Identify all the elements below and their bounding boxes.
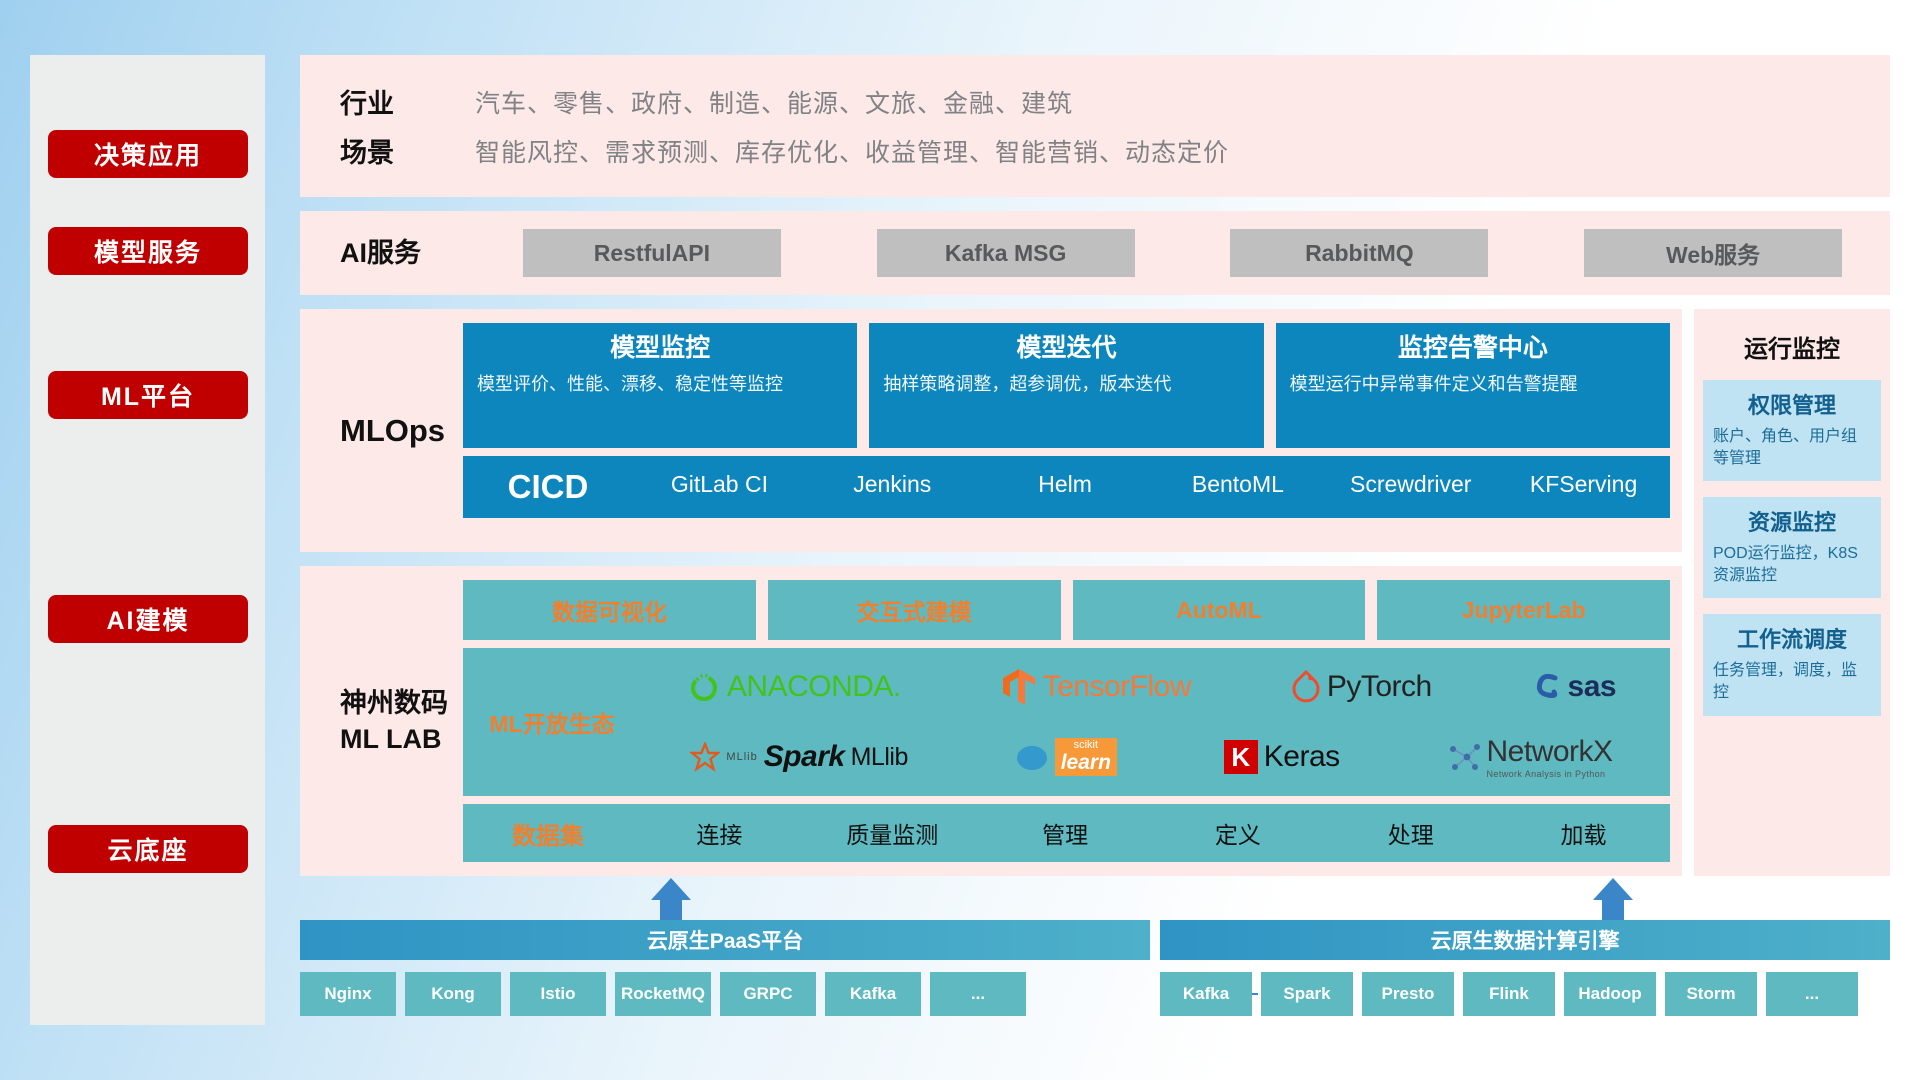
networkx-logo: NetworkX Network Analysis in Python — [1447, 735, 1613, 779]
keras-logo: K Keras — [1224, 740, 1340, 774]
platform-and-monitor: MLOps 模型监控 模型评价、性能、漂移、稳定性等监控 模型迭代 抽样策略调整… — [300, 309, 1890, 876]
tensorflow-logo: TensorFlow — [1001, 667, 1191, 707]
anaconda-logo-text: ANACONDA. — [727, 670, 901, 704]
scikit-learn-logo: scikit learn — [1015, 738, 1117, 776]
paas-chip-istio[interactable]: Istio — [510, 972, 606, 1016]
engine-chip-kafka[interactable]: Kafka — [1160, 972, 1252, 1016]
dataset-item-connect[interactable]: 连接 — [633, 816, 806, 850]
engine-chip-storm[interactable]: Storm — [1665, 972, 1757, 1016]
rail-label: ML平台 — [101, 377, 195, 413]
paas-chip-kong[interactable]: Kong — [405, 972, 501, 1016]
engine-chip-spark[interactable]: Spark — [1261, 972, 1353, 1016]
engine-chip-hadoop[interactable]: Hadoop — [1564, 972, 1656, 1016]
scenario-row: 场景 智能风控、需求预测、库存优化、收益管理、智能营销、动态定价 — [340, 126, 1890, 175]
keras-mark-icon: K — [1224, 740, 1258, 774]
paas-chip-more[interactable]: ... — [930, 972, 1026, 1016]
engine-chip-more[interactable]: ... — [1766, 972, 1858, 1016]
sas-mark-icon — [1532, 671, 1562, 703]
ml-lab-label-line1: 神州数码 — [340, 685, 463, 721]
spark-apache-text: MLlib — [726, 751, 757, 763]
monitor-card-resource[interactable]: 资源监控 POD运行监控，K8S资源监控 — [1703, 497, 1881, 598]
cicd-item-kfserving[interactable]: KFServing — [1497, 470, 1670, 504]
ecosystem-logo-grid: ANACONDA. TensorFlow — [637, 654, 1666, 790]
keras-logo-text: Keras — [1264, 740, 1340, 774]
ecosystem-logo-row-1: ANACONDA. TensorFlow — [637, 654, 1666, 720]
ml-ecosystem-label: ML开放生态 — [467, 705, 637, 739]
rail-label: 云底座 — [107, 831, 188, 867]
ai-service-cell: Web服务 — [1536, 229, 1890, 277]
rail-label: 决策应用 — [94, 136, 202, 172]
ecosystem-logo-row-2: MLlib Spark MLlib scikit — [637, 724, 1666, 790]
spark-logo-text: Spark — [764, 740, 845, 774]
dataset-title: 数据集 — [463, 816, 633, 851]
mllib-text: MLlib — [851, 743, 908, 772]
ml-ecosystem-band: ML开放生态 ANACONDA. — [463, 648, 1670, 796]
scenario-value: 智能风控、需求预测、库存优化、收益管理、智能营销、动态定价 — [475, 133, 1229, 169]
cicd-item-helm[interactable]: Helm — [979, 470, 1152, 504]
mlops-card-model-iteration[interactable]: 模型迭代 抽样策略调整，超参调优，版本迭代 — [869, 323, 1263, 448]
rail-item-decision-apps[interactable]: 决策应用 — [48, 130, 248, 178]
tool-jupyterlab[interactable]: JupyterLab — [1377, 580, 1670, 640]
cicd-item-list: GitLab CI Jenkins Helm BentoML Screwdriv… — [633, 470, 1670, 504]
card-title: 资源监控 — [1713, 505, 1871, 537]
service-box-web[interactable]: Web服务 — [1584, 229, 1842, 277]
card-desc: POD运行监控，K8S资源监控 — [1713, 543, 1871, 586]
tensorflow-mark-icon — [1001, 667, 1037, 707]
card-desc: 抽样策略调整，超参调优，版本迭代 — [883, 371, 1249, 397]
mlops-card-alert-center[interactable]: 监控告警中心 模型运行中异常事件定义和告警提醒 — [1276, 323, 1670, 448]
tensorflow-logo-text: TensorFlow — [1043, 670, 1191, 704]
spark-star-icon — [690, 742, 720, 772]
scikit-text: scikit — [1061, 739, 1111, 751]
architecture-main: 行业 汽车、零售、政府、制造、能源、文旅、金融、建筑 场景 智能风控、需求预测、… — [300, 55, 1890, 876]
tool-data-visualization[interactable]: 数据可视化 — [463, 580, 756, 640]
dataset-item-define[interactable]: 定义 — [1151, 816, 1324, 850]
service-box-kafka-msg[interactable]: Kafka MSG — [877, 229, 1135, 277]
runtime-monitoring-panel: 运行监控 权限管理 账户、角色、用户组等管理 资源监控 POD运行监控，K8S资… — [1694, 309, 1890, 876]
cicd-item-screwdriver[interactable]: Screwdriver — [1324, 470, 1497, 504]
ai-service-cell: RabbitMQ — [1183, 229, 1537, 277]
pytorch-logo-text: PyTorch — [1327, 670, 1432, 704]
ai-service-cell: Kafka MSG — [829, 229, 1183, 277]
anaconda-mark-icon — [687, 670, 721, 704]
mlops-band: MLOps 模型监控 模型评价、性能、漂移、稳定性等监控 模型迭代 抽样策略调整… — [300, 309, 1682, 552]
dataset-item-list: 连接 质量监测 管理 定义 处理 加载 — [633, 816, 1670, 850]
networkx-graph-icon — [1447, 741, 1481, 773]
ml-lab-content: 数据可视化 交互式建模 AutoML JupyterLab ML开放生态 — [463, 580, 1670, 862]
scikit-blue-blob-icon — [1015, 742, 1049, 772]
cicd-item-bentoml[interactable]: BentoML — [1151, 470, 1324, 504]
card-title: 工作流调度 — [1713, 622, 1871, 654]
engine-chip-presto[interactable]: Presto — [1362, 972, 1454, 1016]
industry-value: 汽车、零售、政府、制造、能源、文旅、金融、建筑 — [475, 84, 1073, 120]
paas-chip-rocketmq[interactable]: RocketMQ — [615, 972, 711, 1016]
monitor-card-permission[interactable]: 权限管理 账户、角色、用户组等管理 — [1703, 380, 1881, 481]
stack-layer-rail: 决策应用 模型服务 ML平台 AI建模 云底座 — [30, 55, 265, 1025]
dataset-bar: 数据集 连接 质量监测 管理 定义 处理 加载 — [463, 804, 1670, 862]
pytorch-mark-icon — [1291, 669, 1321, 705]
paas-header: 云原生PaaS平台 — [300, 920, 1150, 960]
scenario-key: 场景 — [340, 131, 475, 170]
mlops-card-model-monitoring[interactable]: 模型监控 模型评价、性能、漂移、稳定性等监控 — [463, 323, 857, 448]
paas-chip-nginx[interactable]: Nginx — [300, 972, 396, 1016]
industry-key: 行业 — [340, 82, 475, 121]
ml-lab-label: 神州数码 ML LAB — [340, 685, 463, 758]
pytorch-logo: PyTorch — [1291, 669, 1432, 705]
paas-chip-grpc[interactable]: GRPC — [720, 972, 816, 1016]
tool-automl[interactable]: AutoML — [1073, 580, 1366, 640]
cloud-foundation-section: 云原生PaaS平台 Nginx Kong Istio RocketMQ GRPC… — [300, 880, 1890, 1040]
engine-chip-list: Kafka Spark Presto Flink Hadoop Storm ..… — [1160, 972, 1890, 1016]
mlops-content: 模型监控 模型评价、性能、漂移、稳定性等监控 模型迭代 抽样策略调整，超参调优，… — [463, 323, 1670, 538]
monitor-card-workflow[interactable]: 工作流调度 任务管理，调度，监控 — [1703, 614, 1881, 715]
rail-label: 模型服务 — [94, 233, 202, 269]
engine-group: 云原生数据计算引擎 Kafka Spark Presto Flink Hadoo… — [1160, 920, 1890, 1016]
cicd-item-gitlab-ci[interactable]: GitLab CI — [633, 470, 806, 504]
anaconda-logo: ANACONDA. — [687, 670, 901, 704]
rail-label: AI建模 — [106, 601, 189, 637]
ai-service-band: AI服务 RestfulAPI Kafka MSG RabbitMQ Web服务 — [300, 211, 1890, 295]
dataset-item-quality-monitor[interactable]: 质量监测 — [806, 816, 979, 850]
cicd-bar: CICD GitLab CI Jenkins Helm BentoML Scre… — [463, 456, 1670, 518]
engine-chip-flink[interactable]: Flink — [1463, 972, 1555, 1016]
learn-text: learn — [1061, 751, 1111, 775]
tool-interactive-modeling[interactable]: 交互式建模 — [768, 580, 1061, 640]
ai-service-cell: RestfulAPI — [475, 229, 829, 277]
cicd-title: CICD — [463, 468, 633, 506]
industry-scenario-band: 行业 汽车、零售、政府、制造、能源、文旅、金融、建筑 场景 智能风控、需求预测、… — [300, 55, 1890, 197]
paas-arrow-head-icon — [651, 878, 691, 900]
rail-item-cloud-base[interactable]: 云底座 — [48, 825, 248, 873]
rail-item-model-service[interactable]: 模型服务 — [48, 227, 248, 275]
ai-service-list: RestfulAPI Kafka MSG RabbitMQ Web服务 — [475, 229, 1890, 277]
service-box-rabbitmq[interactable]: RabbitMQ — [1230, 229, 1488, 277]
mlops-label: MLOps — [340, 323, 463, 538]
spark-mllib-logo: MLlib Spark MLlib — [690, 740, 907, 774]
monitoring-panel-title: 运行监控 — [1744, 329, 1840, 364]
ml-lab-label-line2: ML LAB — [340, 721, 463, 757]
paas-chip-list: Nginx Kong Istio RocketMQ GRPC Kafka ... — [300, 972, 1150, 1016]
card-title: 模型迭代 — [883, 333, 1249, 363]
service-box-restfulapi[interactable]: RestfulAPI — [523, 229, 781, 277]
scikit-learn-badge: scikit learn — [1055, 738, 1117, 776]
paas-chip-kafka[interactable]: Kafka — [825, 972, 921, 1016]
networkx-logo-text: NetworkX — [1487, 735, 1613, 769]
card-title: 监控告警中心 — [1290, 333, 1656, 363]
mlops-card-list: 模型监控 模型评价、性能、漂移、稳定性等监控 模型迭代 抽样策略调整，超参调优，… — [463, 323, 1670, 448]
industry-row: 行业 汽车、零售、政府、制造、能源、文旅、金融、建筑 — [340, 77, 1890, 126]
card-desc: 账户、角色、用户组等管理 — [1713, 426, 1871, 469]
dataset-item-manage[interactable]: 管理 — [979, 816, 1152, 850]
platform-stack: MLOps 模型监控 模型评价、性能、漂移、稳定性等监控 模型迭代 抽样策略调整… — [300, 309, 1682, 876]
networkx-tagline: Network Analysis in Python — [1487, 769, 1606, 779]
card-desc: 模型评价、性能、漂移、稳定性等监控 — [477, 371, 843, 397]
card-desc: 模型运行中异常事件定义和告警提醒 — [1290, 371, 1656, 397]
rail-item-ml-platform[interactable]: ML平台 — [48, 371, 248, 419]
ml-lab-band: 神州数码 ML LAB 数据可视化 交互式建模 AutoML JupyterLa… — [300, 566, 1682, 876]
dataset-item-load[interactable]: 加载 — [1497, 816, 1670, 850]
dataset-item-process[interactable]: 处理 — [1324, 816, 1497, 850]
paas-group: 云原生PaaS平台 Nginx Kong Istio RocketMQ GRPC… — [300, 920, 1150, 1016]
sas-logo-text: sas — [1568, 670, 1617, 704]
engine-arrow-head-icon — [1593, 878, 1633, 900]
lab-tool-list: 数据可视化 交互式建模 AutoML JupyterLab — [463, 580, 1670, 640]
cicd-item-jenkins[interactable]: Jenkins — [806, 470, 979, 504]
ai-service-label: AI服务 — [340, 235, 475, 271]
rail-item-ai-modeling[interactable]: AI建模 — [48, 595, 248, 643]
sas-logo: sas — [1532, 670, 1617, 704]
card-title: 模型监控 — [477, 333, 843, 363]
engine-header: 云原生数据计算引擎 — [1160, 920, 1890, 960]
card-title: 权限管理 — [1713, 388, 1871, 420]
card-desc: 任务管理，调度，监控 — [1713, 660, 1871, 703]
